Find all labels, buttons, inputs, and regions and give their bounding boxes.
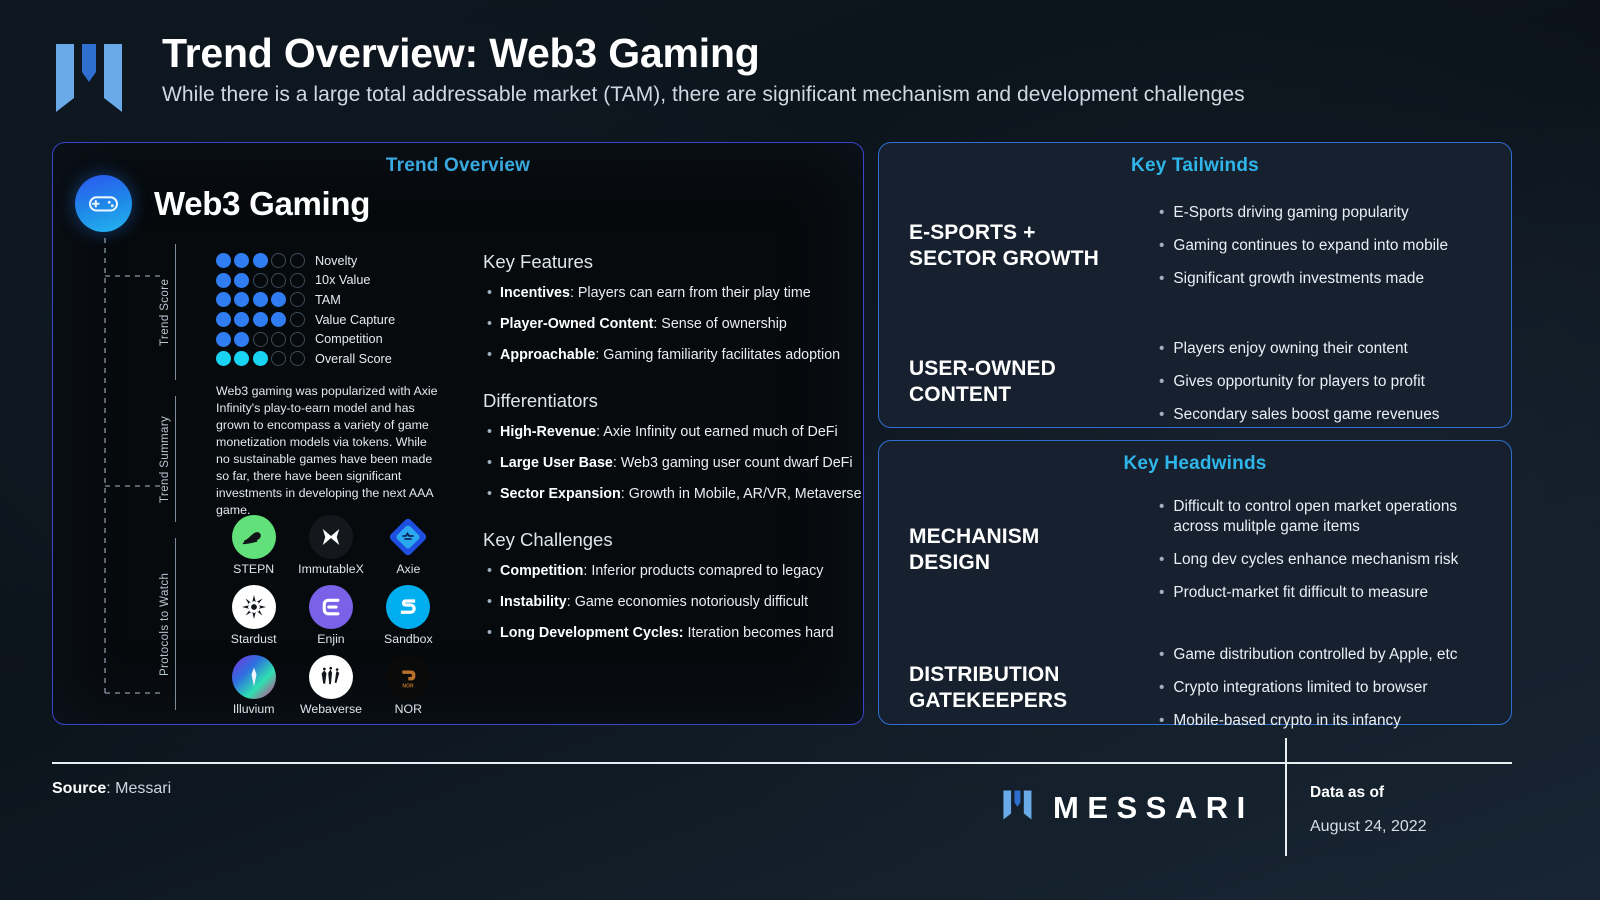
bullet-icon: • xyxy=(1159,339,1164,359)
stepn-logo-icon xyxy=(232,515,276,559)
protocol-name: Sandbox xyxy=(384,632,433,646)
axie-logo-icon xyxy=(386,515,430,559)
score-dot-empty xyxy=(253,273,268,288)
feature-item-desc: : Inferior products comapred to legacy xyxy=(583,563,823,579)
feature-group-title: Differentiators xyxy=(483,390,853,412)
score-dot-empty xyxy=(253,332,268,347)
trend-score-grid: Novelty10x ValueTAMValue CaptureCompetit… xyxy=(216,251,395,369)
headwinds-rows: MECHANISM DESIGN•Difficult to control op… xyxy=(879,497,1511,731)
rail-label-protocols: Protocols to Watch xyxy=(159,538,171,710)
feature-item-desc: : Game economies notoriously difficult xyxy=(567,594,808,610)
trend-summary-text: Web3 gaming was popularized with Axie In… xyxy=(216,383,442,519)
enjin-logo-icon xyxy=(309,585,353,629)
protocol-name: Stardust xyxy=(231,632,277,646)
protocols-grid: STEPNImmutableXAxieStardustEnjinSandboxI… xyxy=(215,515,447,716)
tailwinds-row-title: E-SPORTS + SECTOR GROWTH xyxy=(909,220,1159,271)
score-dot-filled xyxy=(234,332,249,347)
feature-item-text: High-Revenue: Axie Infinity out earned m… xyxy=(500,423,838,442)
bullet-item: •Product-market fit difficult to measure xyxy=(1159,583,1511,603)
protocol-item[interactable]: Sandbox xyxy=(370,585,446,646)
score-label: Competition xyxy=(315,332,383,346)
feature-item: •Sector Expansion: Growth in Mobile, AR/… xyxy=(483,485,853,504)
key-tailwinds-heading: Key Tailwinds xyxy=(879,155,1511,177)
rail-rule-summary xyxy=(175,396,176,522)
feature-item-text: Large User Base: Web3 gaming user count … xyxy=(500,454,853,473)
trend-score-row: TAM xyxy=(216,290,395,310)
illuvium-logo-icon xyxy=(232,655,276,699)
bullet-icon: • xyxy=(487,454,492,473)
feature-item-text: Competition: Inferior products comapred … xyxy=(500,562,823,581)
feature-item-desc: Iteration becomes hard xyxy=(684,625,834,641)
bullet-icon: • xyxy=(1159,550,1164,570)
source-value: : Messari xyxy=(106,780,171,797)
data-as-of-label: Data as of xyxy=(1310,784,1384,802)
headwinds-row: DISTRIBUTION GATEKEEPERS•Game distributi… xyxy=(879,645,1511,731)
protocol-name: NOR xyxy=(395,702,422,716)
feature-item-text: Long Development Cycles: Iteration becom… xyxy=(500,624,834,643)
feature-item-text: Approachable: Gaming familiarity facilit… xyxy=(500,346,840,365)
score-dot-filled xyxy=(253,312,268,327)
protocol-item[interactable]: Stardust xyxy=(216,585,292,646)
bullet-icon: • xyxy=(1159,236,1164,256)
feature-item: •Large User Base: Web3 gaming user count… xyxy=(483,454,853,473)
nor-logo-icon: NOR xyxy=(386,655,430,699)
messari-logo-icon xyxy=(1000,788,1040,827)
trend-score-row: Novelty xyxy=(216,251,395,271)
score-dot-empty xyxy=(290,312,305,327)
score-dot-empty xyxy=(290,292,305,307)
protocol-item[interactable]: Webaverse xyxy=(293,655,369,716)
bullet-icon: • xyxy=(1159,203,1164,223)
feature-item: •Incentives: Players can earn from their… xyxy=(483,284,853,303)
page-subtitle: While there is a large total addressable… xyxy=(162,83,1245,107)
stardust-logo-icon xyxy=(232,585,276,629)
sandbox-logo-icon xyxy=(386,585,430,629)
bullet-icon: • xyxy=(1159,405,1164,425)
feature-item-term: Long Development Cycles: xyxy=(500,625,684,641)
trend-score-row: Competition xyxy=(216,329,395,349)
tailwinds-row-title: USER-OWNED CONTENT xyxy=(909,356,1159,407)
score-label: TAM xyxy=(315,293,341,307)
feature-item-term: Player-Owned Content xyxy=(500,316,653,332)
brand-name: Web3 Gaming xyxy=(154,185,370,223)
key-headwinds-panel: Key Headwinds MECHANISM DESIGN•Difficult… xyxy=(878,440,1512,725)
bullet-icon: • xyxy=(1159,645,1164,665)
immutablex-logo-icon xyxy=(309,515,353,559)
source-label: Source xyxy=(52,780,106,797)
webaverse-logo-icon xyxy=(309,655,353,699)
bullet-item: •Secondary sales boost game revenues xyxy=(1159,405,1511,425)
bullet-item: •Players enjoy owning their content xyxy=(1159,339,1511,359)
bullet-text: Long dev cycles enhance mechanism risk xyxy=(1173,550,1458,570)
trend-score-row: Value Capture xyxy=(216,310,395,330)
bullet-icon: • xyxy=(487,315,492,334)
tailwinds-row-list: •E-Sports driving gaming popularity•Gami… xyxy=(1159,203,1511,289)
score-dot-empty xyxy=(290,273,305,288)
score-dot-empty xyxy=(290,332,305,347)
score-dot-filled xyxy=(234,253,249,268)
bullet-icon: • xyxy=(487,284,492,303)
page-title: Trend Overview: Web3 Gaming xyxy=(162,28,1245,78)
bullet-item: •Long dev cycles enhance mechanism risk xyxy=(1159,550,1511,570)
bullet-item: •Difficult to control open market operat… xyxy=(1159,497,1511,537)
feature-group: Key Challenges•Competition: Inferior pro… xyxy=(483,529,853,643)
feature-item-desc: : Web3 gaming user count dwarf DeFi xyxy=(613,455,853,471)
game-controller-icon xyxy=(75,175,132,232)
feature-item-term: Approachable xyxy=(500,347,595,363)
score-label: Value Capture xyxy=(315,313,395,327)
protocol-name: ImmutableX xyxy=(298,562,364,576)
messari-wordmark: MESSARI xyxy=(1053,790,1254,826)
score-dot-filled xyxy=(271,292,286,307)
section-rail: Trend Score Trend Summary Protocols to W… xyxy=(99,238,219,716)
headwinds-row-title: MECHANISM DESIGN xyxy=(909,524,1159,575)
feature-item: •Long Development Cycles: Iteration beco… xyxy=(483,624,853,643)
bullet-text: Secondary sales boost game revenues xyxy=(1173,405,1439,425)
bullet-text: Mobile-based crypto in its infancy xyxy=(1173,711,1401,731)
protocol-item[interactable]: NORNOR xyxy=(370,655,446,716)
feature-group: Key Features•Incentives: Players can ear… xyxy=(483,251,853,365)
protocol-name: Enjin xyxy=(317,632,344,646)
headwinds-row: MECHANISM DESIGN•Difficult to control op… xyxy=(879,497,1511,603)
page-header: Trend Overview: Web3 Gaming While there … xyxy=(52,28,1552,138)
protocol-item[interactable]: Enjin xyxy=(293,585,369,646)
feature-item-term: Sector Expansion xyxy=(500,486,621,502)
bullet-text: Product-market fit difficult to measure xyxy=(1173,583,1428,603)
score-dot-empty xyxy=(271,273,286,288)
bullet-text: Gaming continues to expand into mobile xyxy=(1173,236,1448,256)
rail-label-score: Trend Score xyxy=(159,244,171,380)
trend-overview-heading: Trend Overview xyxy=(53,155,863,177)
footer-divider-vertical xyxy=(1285,738,1287,856)
feature-group-title: Key Challenges xyxy=(483,529,853,551)
feature-group-title: Key Features xyxy=(483,251,853,273)
data-as-of-date: August 24, 2022 xyxy=(1310,818,1427,836)
bullet-icon: • xyxy=(487,593,492,612)
score-dot-empty xyxy=(290,351,305,366)
feature-item-text: Player-Owned Content: Sense of ownership xyxy=(500,315,787,334)
svg-text:NOR: NOR xyxy=(403,683,415,689)
score-dot-empty xyxy=(290,253,305,268)
bullet-icon: • xyxy=(1159,678,1164,698)
infographic-root: Trend Overview: Web3 Gaming While there … xyxy=(0,0,1600,900)
score-dot-filled xyxy=(216,332,231,347)
feature-item-term: High-Revenue xyxy=(500,424,596,440)
feature-item-desc: : Players can earn from their play time xyxy=(570,285,811,301)
key-tailwinds-panel: Key Tailwinds E-SPORTS + SECTOR GROWTH•E… xyxy=(878,142,1512,428)
tailwinds-row: USER-OWNED CONTENT•Players enjoy owning … xyxy=(879,339,1511,425)
feature-item: •Approachable: Gaming familiarity facili… xyxy=(483,346,853,365)
feature-item: •High-Revenue: Axie Infinity out earned … xyxy=(483,423,853,442)
bullet-item: •Mobile-based crypto in its infancy xyxy=(1159,711,1511,731)
score-dot-empty xyxy=(271,351,286,366)
score-label: 10x Value xyxy=(315,273,371,287)
protocol-item[interactable]: Axie xyxy=(370,515,446,576)
score-dot-filled xyxy=(253,351,268,366)
feature-item-desc: : Growth in Mobile, AR/VR, Metaverse xyxy=(621,486,862,502)
bullet-item: •Gives opportunity for players to profit xyxy=(1159,372,1511,392)
protocol-name: Illuvium xyxy=(233,702,275,716)
score-label: Overall Score xyxy=(315,352,392,366)
feature-item: •Player-Owned Content: Sense of ownershi… xyxy=(483,315,853,334)
score-dot-filled xyxy=(234,312,249,327)
bullet-item: •Gaming continues to expand into mobile xyxy=(1159,236,1511,256)
bullet-item: •E-Sports driving gaming popularity xyxy=(1159,203,1511,223)
bullet-item: •Game distribution controlled by Apple, … xyxy=(1159,645,1511,665)
tailwinds-row: E-SPORTS + SECTOR GROWTH•E-Sports drivin… xyxy=(879,203,1511,289)
bullet-icon: • xyxy=(1159,372,1164,392)
bullet-icon: • xyxy=(1159,583,1164,603)
bullet-icon: • xyxy=(487,624,492,643)
feature-item-term: Instability xyxy=(500,594,567,610)
headwinds-row-list: •Difficult to control open market operat… xyxy=(1159,497,1511,603)
trend-score-row: Overall Score xyxy=(216,349,395,369)
bullet-text: Crypto integrations limited to browser xyxy=(1173,678,1427,698)
bullet-text: Players enjoy owning their content xyxy=(1173,339,1407,359)
bullet-icon: • xyxy=(487,423,492,442)
key-headwinds-heading: Key Headwinds xyxy=(879,453,1511,475)
tailwinds-rows: E-SPORTS + SECTOR GROWTH•E-Sports drivin… xyxy=(879,203,1511,425)
bullet-icon: • xyxy=(487,485,492,504)
score-dot-filled xyxy=(216,292,231,307)
score-dot-empty xyxy=(271,332,286,347)
feature-item: •Instability: Game economies notoriously… xyxy=(483,593,853,612)
feature-item-term: Large User Base xyxy=(500,455,613,471)
bullet-icon: • xyxy=(1159,497,1164,537)
score-label: Novelty xyxy=(315,254,357,268)
protocol-item[interactable]: ImmutableX xyxy=(293,515,369,576)
footer-divider-horizontal xyxy=(52,762,1512,764)
bullet-text: Difficult to control open market operati… xyxy=(1173,497,1473,537)
bullet-icon: • xyxy=(487,346,492,365)
feature-item-text: Instability: Game economies notoriously … xyxy=(500,593,808,612)
trend-overview-panel: Trend Overview Web3 Gaming xyxy=(52,142,864,725)
bullet-icon: • xyxy=(1159,711,1164,731)
bullet-text: Gives opportunity for players to profit xyxy=(1173,372,1425,392)
bullet-item: •Significant growth investments made xyxy=(1159,269,1511,289)
score-dot-filled xyxy=(216,253,231,268)
score-dot-empty xyxy=(271,253,286,268)
score-dot-filled xyxy=(253,253,268,268)
feature-item-term: Competition xyxy=(500,563,583,579)
headwinds-row-list: •Game distribution controlled by Apple, … xyxy=(1159,645,1511,731)
feature-item-term: Incentives xyxy=(500,285,570,301)
score-dot-filled xyxy=(271,312,286,327)
feature-item-text: Sector Expansion: Growth in Mobile, AR/V… xyxy=(500,485,862,504)
feature-item-desc: : Axie Infinity out earned much of DeFi xyxy=(596,424,838,440)
score-dot-filled xyxy=(234,273,249,288)
feature-columns: Key Features•Incentives: Players can ear… xyxy=(483,251,853,668)
protocol-name: Webaverse xyxy=(300,702,362,716)
feature-item-text: Incentives: Players can earn from their … xyxy=(500,284,811,303)
rail-label-summary: Trend Summary xyxy=(159,396,171,522)
rail-rule-score xyxy=(175,244,176,380)
headwinds-row-title: DISTRIBUTION GATEKEEPERS xyxy=(909,662,1159,713)
brand-row: Web3 Gaming xyxy=(75,175,370,232)
bullet-text: E-Sports driving gaming popularity xyxy=(1173,203,1408,223)
footer-brand: MESSARI xyxy=(1000,788,1254,827)
title-block: Trend Overview: Web3 Gaming While there … xyxy=(162,28,1245,107)
feature-item-desc: : Gaming familiarity facilitates adoptio… xyxy=(595,347,840,363)
score-dot-filled xyxy=(216,351,231,366)
rail-rule-protocols xyxy=(175,538,176,710)
messari-logo-icon xyxy=(52,38,138,118)
bullet-icon: • xyxy=(1159,269,1164,289)
score-dot-filled xyxy=(253,292,268,307)
feature-group: Differentiators•High-Revenue: Axie Infin… xyxy=(483,390,853,504)
bullet-text: Significant growth investments made xyxy=(1173,269,1424,289)
score-dot-filled xyxy=(216,312,231,327)
bullet-text: Game distribution controlled by Apple, e… xyxy=(1173,645,1457,665)
feature-item-desc: : Sense of ownership xyxy=(653,316,787,332)
feature-item: •Competition: Inferior products comapred… xyxy=(483,562,853,581)
score-dot-filled xyxy=(234,351,249,366)
protocol-name: Axie xyxy=(396,562,420,576)
bullet-item: •Crypto integrations limited to browser xyxy=(1159,678,1511,698)
bullet-icon: • xyxy=(487,562,492,581)
source-line: Source: Messari xyxy=(52,780,171,798)
protocol-name: STEPN xyxy=(233,562,274,576)
score-dot-filled xyxy=(216,273,231,288)
protocol-item[interactable]: Illuvium xyxy=(216,655,292,716)
protocol-item[interactable]: STEPN xyxy=(216,515,292,576)
trend-score-row: 10x Value xyxy=(216,271,395,291)
score-dot-filled xyxy=(234,292,249,307)
tailwinds-row-list: •Players enjoy owning their content•Give… xyxy=(1159,339,1511,425)
